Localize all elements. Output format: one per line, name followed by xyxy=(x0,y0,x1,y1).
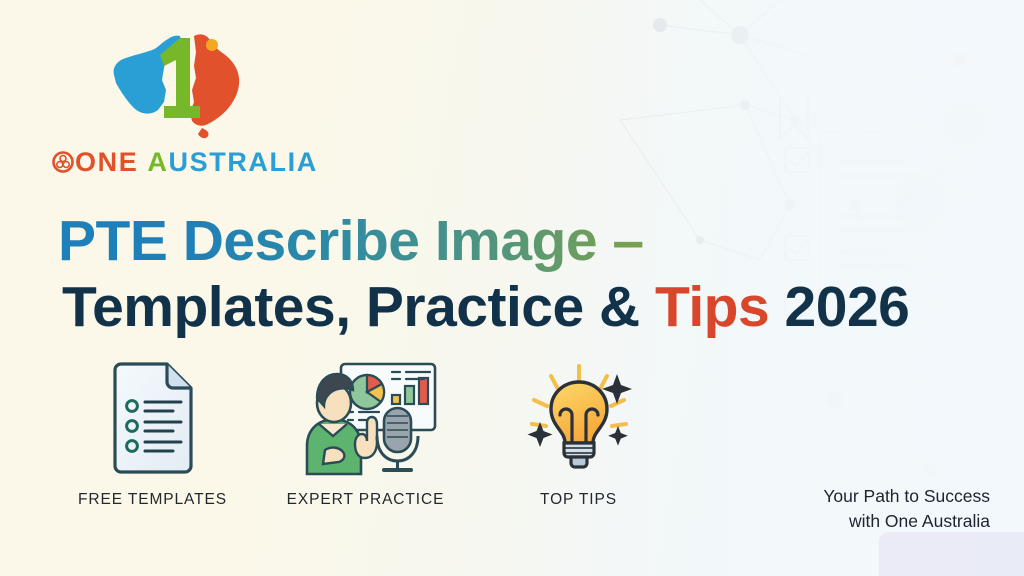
wordmark-ustralia: USTRALIA xyxy=(169,147,318,177)
headline-line-2-suffix: 2026 xyxy=(769,275,909,339)
headline-block: PTE Describe Image – Templates, Practice… xyxy=(58,208,988,340)
presenter-microphone-icon xyxy=(291,360,441,476)
feature-label: EXPERT PRACTICE xyxy=(287,491,445,509)
australia-map-number-one-icon xyxy=(102,28,252,143)
feature-list: FREE TEMPLATES xyxy=(46,360,686,509)
promo-banner: ONE AUSTRALIA PTE Describe Image – Templ… xyxy=(0,0,1024,576)
brand-logo[interactable]: ONE AUSTRALIA xyxy=(52,28,302,178)
document-checklist-icon xyxy=(105,362,201,474)
tagline-line-2: with One Australia xyxy=(823,509,990,534)
feature-item-free-templates[interactable]: FREE TEMPLATES xyxy=(46,360,259,509)
wordmark-a: A xyxy=(147,147,168,177)
logo-o-glyph-icon xyxy=(52,151,74,178)
wordmark-one: ONE xyxy=(52,147,138,177)
headline-line-2: Templates, Practice & Tips 2026 xyxy=(58,274,988,340)
tagline: Your Path to Success with One Australia xyxy=(823,484,990,534)
headline-line-2-prefix: Templates, Practice & xyxy=(62,275,655,339)
feature-item-expert-practice[interactable]: EXPERT PRACTICE xyxy=(259,360,472,509)
feature-item-top-tips[interactable]: TOP TIPS xyxy=(472,360,685,509)
feature-icon-slot xyxy=(105,360,201,475)
feature-icon-slot xyxy=(520,360,638,475)
corner-accent-chip xyxy=(879,532,1024,576)
feature-icon-slot xyxy=(291,360,441,475)
feature-label: TOP TIPS xyxy=(540,491,617,509)
tagline-line-1: Your Path to Success xyxy=(823,484,990,509)
headline-line-1: PTE Describe Image – xyxy=(58,208,988,274)
headline-accent-tips: Tips xyxy=(655,275,769,339)
feature-label: FREE TEMPLATES xyxy=(78,491,227,509)
brand-wordmark: ONE AUSTRALIA xyxy=(52,149,302,178)
lightbulb-sparkle-icon xyxy=(520,360,638,476)
